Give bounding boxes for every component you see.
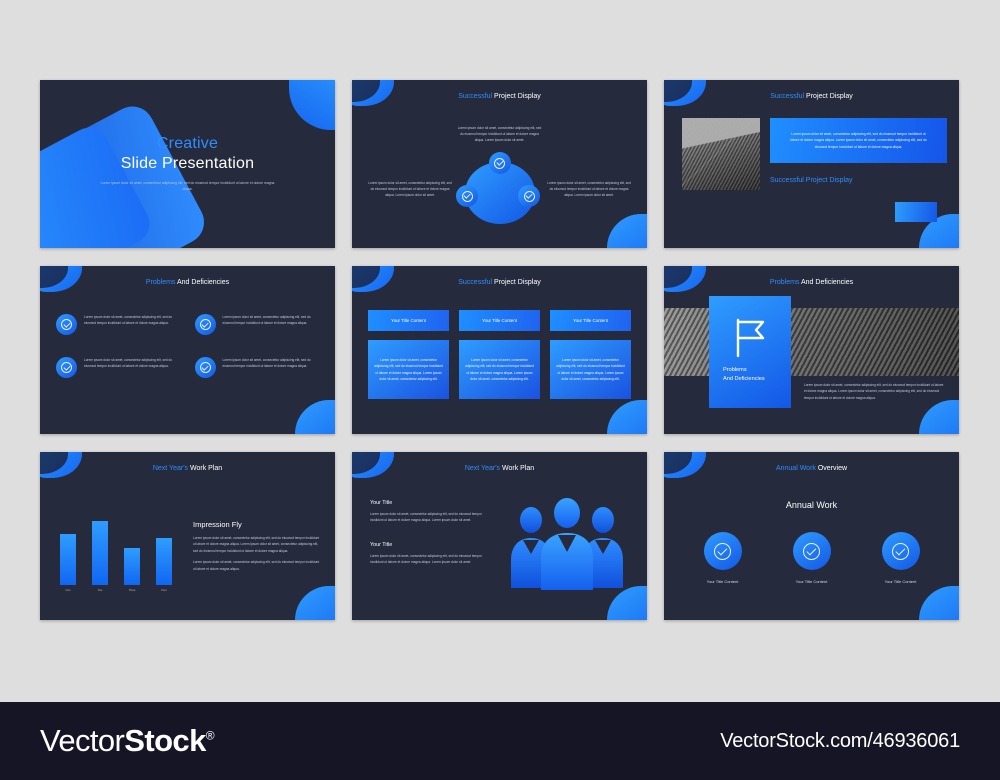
check-circle-icon (56, 314, 77, 335)
check-glyph (200, 362, 211, 373)
slide-title-rest: Project Display (492, 279, 541, 286)
bar-column: Three (124, 502, 140, 592)
node-left[interactable] (456, 185, 478, 207)
slide-title-accent: Successful (458, 279, 492, 286)
annual-items-row: Your Title Content Your Title Content Yo… (678, 532, 945, 584)
slide-title-accent: Next Year's (153, 465, 188, 472)
card-heading: Your Title Content (368, 310, 449, 331)
check-glyph (803, 543, 820, 560)
card-heading: Your Title Content (459, 310, 540, 331)
slide-title: Next Year's Work Plan (40, 465, 335, 472)
bar-chart: OneTwoThreeFour (60, 502, 190, 592)
node-right[interactable] (518, 185, 540, 207)
circle-text-top: Lorem ipsum dolor sit amet, consectetur … (456, 125, 544, 144)
check-circle-icon (494, 158, 505, 169)
flag-icon (733, 318, 767, 363)
block-body: Lorem ipsum dolor sit amet, consectetur … (370, 553, 490, 566)
slide-title-rest: Project Display (492, 93, 541, 100)
list-item-text: Lorem ipsum dolor sit amet, consectetur … (84, 357, 181, 370)
bar-column: Two (92, 502, 108, 592)
slide-title: Next Year's Work Plan (352, 465, 647, 472)
panel-body-text: Lorem ipsum dolor sit amet, consectetur … (804, 382, 945, 401)
annual-item-caption: Your Title Content (796, 579, 828, 584)
list-item[interactable]: Lorem ipsum dolor sit amet, consectetur … (195, 357, 320, 378)
slide-title: Successful Project Display (664, 93, 959, 100)
blue-text-band: Lorem ipsum dolor sit amet, consectetur … (770, 118, 947, 163)
bar (124, 548, 140, 585)
card-body: Lorem ipsum dolor sit amet, consectetur … (550, 340, 631, 399)
bar-label: Two (98, 589, 103, 592)
list-item[interactable]: Lorem ipsum dolor sit amet, consectetur … (56, 314, 181, 335)
people-text-column: Your Title Lorem ipsum dolor sit amet, c… (370, 500, 490, 584)
card-body-text: Lorem ipsum dolor sit amet, consectetur … (556, 357, 625, 383)
check-glyph (61, 362, 72, 373)
cover-title-main: Slide Presentation (40, 155, 335, 173)
slide-title-accent: Problems (770, 279, 800, 286)
slide-problems-four-icons[interactable]: Problems And Deficiencies Lorem ipsum do… (40, 266, 335, 434)
building-photo (682, 118, 760, 190)
slide-work-plan-people[interactable]: Next Year's Work Plan Your Title Lorem i… (352, 452, 647, 620)
slide-thumbnail-grid: Creative Slide Presentation Lorem ipsum … (40, 80, 960, 621)
slide-title-rest: And Deficiencies (799, 279, 853, 286)
check-circle-icon (793, 532, 831, 570)
flag-panel[interactable]: Problems And Deficiencies (709, 296, 791, 408)
slide-title-rest: Overview (816, 465, 847, 472)
corner-decoration-bottom-right (607, 214, 647, 248)
bar-label: Three (129, 589, 136, 592)
bar (156, 538, 172, 585)
check-glyph (714, 543, 731, 560)
slide-annual-work-overview[interactable]: Annual Work Overview Annual Work Your Ti… (664, 452, 959, 620)
registered-mark-icon: ® (206, 729, 214, 743)
bar-label: One (66, 589, 71, 592)
slide-title-rest: Work Plan (188, 465, 222, 472)
cover-text-block: Creative Slide Presentation Lorem ipsum … (40, 135, 335, 193)
check-glyph (892, 543, 909, 560)
slide-title: Successful Project Display (352, 279, 647, 286)
blue-chip-shape (895, 202, 937, 222)
check-glyph (200, 319, 211, 330)
slide-title: Annual Work Overview (664, 465, 959, 472)
cover-title-accent: Creative (40, 135, 335, 153)
slide-problems-flag-panel[interactable]: Problems And Deficiencies Problems And D… (664, 266, 959, 434)
annual-item-caption: Your Title Content (885, 579, 917, 584)
slide-title-accent: Successful (458, 93, 492, 100)
logo-bold: Stock (124, 723, 205, 758)
check-circle-icon (195, 314, 216, 335)
panel-caption-line-1: Problems (723, 366, 765, 375)
slide-title-accent: Successful (770, 93, 804, 100)
corner-decoration-top-right (289, 80, 335, 130)
annual-item[interactable]: Your Title Content (856, 532, 945, 584)
chart-heading: Impression Fly (193, 520, 321, 529)
band-text: Lorem ipsum dolor sit amet, consectetur … (790, 131, 928, 151)
list-item[interactable]: Lorem ipsum dolor sit amet, consectetur … (195, 314, 320, 335)
block-body: Lorem ipsum dolor sit amet, consectetur … (370, 511, 490, 524)
corner-decoration-bottom-right (295, 400, 335, 434)
slide-work-plan-chart[interactable]: Next Year's Work Plan OneTwoThreeFour Im… (40, 452, 335, 620)
circle-text-left: Lorem ipsum dolor sit amet, consectetur … (368, 180, 452, 199)
slide-title-rest: Project Display (804, 93, 853, 100)
check-circle-icon (704, 532, 742, 570)
block-heading: Your Title (370, 500, 490, 506)
check-circle-icon (524, 191, 535, 202)
bar-column: One (60, 502, 76, 592)
block-heading: Your Title (370, 542, 490, 548)
chart-body-1: Lorem ipsum dolor sit amet, consectetur … (193, 535, 321, 554)
check-circle-icon (195, 357, 216, 378)
circle-text-right: Lorem ipsum dolor sit amet, consectetur … (547, 180, 631, 199)
check-circle-icon (56, 357, 77, 378)
bar-column: Four (156, 502, 172, 592)
bar-label: Four (161, 589, 166, 592)
section-heading: Annual Work (664, 500, 959, 510)
corner-decoration-bottom-right (919, 400, 959, 434)
logo-thin: Vector (40, 723, 124, 758)
slide-project-display-cards[interactable]: Successful Project Display Your Title Co… (352, 266, 647, 434)
card-body-text: Lorem ipsum dolor sit amet, consectetur … (465, 357, 534, 383)
card[interactable]: Your Title Content Lorem ipsum dolor sit… (550, 310, 631, 399)
check-circle-icon (462, 191, 473, 202)
list-item[interactable]: Lorem ipsum dolor sit amet, consectetur … (56, 357, 181, 378)
slide-title: Problems And Deficiencies (664, 279, 959, 286)
chart-body-2: Lorem ipsum dolor sit amet, consectetur … (193, 559, 321, 572)
vectorstock-logo: VectorStock® (40, 723, 214, 759)
node-top[interactable] (489, 152, 511, 174)
annual-item-caption: Your Title Content (707, 579, 739, 584)
section-heading: Successful Project Display (770, 176, 860, 187)
slide-title-accent: Problems (146, 279, 176, 286)
annual-item[interactable]: Your Title Content (678, 532, 767, 584)
list-item-text: Lorem ipsum dolor sit amet, consectetur … (223, 314, 320, 327)
slide-title-accent: Next Year's (465, 465, 500, 472)
watermark-footer: VectorStock® VectorStock.com/46936061 (0, 702, 1000, 780)
slide-title-accent: Annual Work (776, 465, 816, 472)
vectorstock-url: VectorStock.com/46936061 (720, 730, 960, 753)
annual-item[interactable]: Your Title Content (767, 532, 856, 584)
corner-decoration-bottom-right (919, 586, 959, 620)
bar (60, 534, 76, 585)
list-item-text: Lorem ipsum dolor sit amet, consectetur … (223, 357, 320, 370)
corner-decoration-bottom-right (295, 586, 335, 620)
card-heading: Your Title Content (550, 310, 631, 331)
slide-project-display-photo[interactable]: Successful Project Display Lorem ipsum d… (664, 80, 959, 248)
card-body-text: Lorem ipsum dolor sit amet, consectetur … (374, 357, 443, 383)
icon-text-grid: Lorem ipsum dolor sit amet, consectetur … (56, 314, 319, 378)
slide-cover[interactable]: Creative Slide Presentation Lorem ipsum … (40, 80, 335, 248)
chart-side-text: Impression Fly Lorem ipsum dolor sit ame… (193, 520, 321, 577)
list-item-text: Lorem ipsum dolor sit amet, consectetur … (84, 314, 181, 327)
slide-title-rest: And Deficiencies (175, 279, 229, 286)
panel-caption: Problems And Deficiencies (723, 366, 765, 384)
text-block: Your Title Lorem ipsum dolor sit amet, c… (370, 500, 490, 524)
corner-decoration-bottom-right (607, 400, 647, 434)
cover-subtitle: Lorem ipsum dolor sit amet, consectetur … (98, 180, 278, 193)
card-body: Lorem ipsum dolor sit amet, consectetur … (459, 340, 540, 399)
panel-caption-line-2: And Deficiencies (723, 375, 765, 384)
card[interactable]: Your Title Content Lorem ipsum dolor sit… (459, 310, 540, 399)
slide-title: Successful Project Display (352, 93, 647, 100)
slide-title: Problems And Deficiencies (40, 279, 335, 286)
people-group-icon (509, 496, 625, 597)
bar (92, 521, 108, 585)
slide-project-display-circles[interactable]: Successful Project Display Lorem ipsum d… (352, 80, 647, 248)
slide-title-rest: Work Plan (500, 465, 534, 472)
text-block: Your Title Lorem ipsum dolor sit amet, c… (370, 542, 490, 566)
check-circle-icon (882, 532, 920, 570)
check-glyph (61, 319, 72, 330)
card[interactable]: Your Title Content Lorem ipsum dolor sit… (368, 310, 449, 399)
card-columns: Your Title Content Lorem ipsum dolor sit… (368, 310, 631, 399)
card-body: Lorem ipsum dolor sit amet, consectetur … (368, 340, 449, 399)
